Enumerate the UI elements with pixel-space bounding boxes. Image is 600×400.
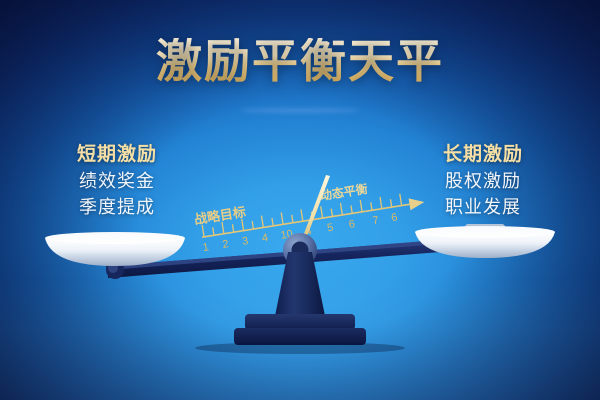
stand-shadow [195, 342, 405, 354]
ruler-label-strategic-goal: 战略目标 [193, 204, 247, 227]
ruler-number-3: 4 [261, 232, 269, 245]
stand-base-upper [245, 314, 355, 330]
ruler-number-2: 3 [241, 235, 249, 248]
right-pan-rim [415, 226, 555, 238]
ruler-number-6: 5 [326, 222, 334, 235]
ruler-number-8: 7 [372, 214, 380, 227]
ruler-number-7: 6 [348, 218, 356, 231]
left-pan-rim [45, 232, 185, 244]
poster-canvas: 激励平衡天平 短期激励 绩效奖金 季度提成 长期激励 股权激励 职业发展 [0, 0, 600, 400]
ruler-number-0: 1 [202, 241, 210, 254]
balance-scale-illustration: 1 2 3 4 10 4 5 6 7 6 战略目标 动态平衡 [0, 0, 600, 400]
ruler-arrow-icon [409, 196, 426, 210]
ruler-number-9: 6 [390, 211, 398, 224]
right-pan-group [415, 224, 555, 258]
ruler-number-1: 2 [222, 238, 230, 251]
